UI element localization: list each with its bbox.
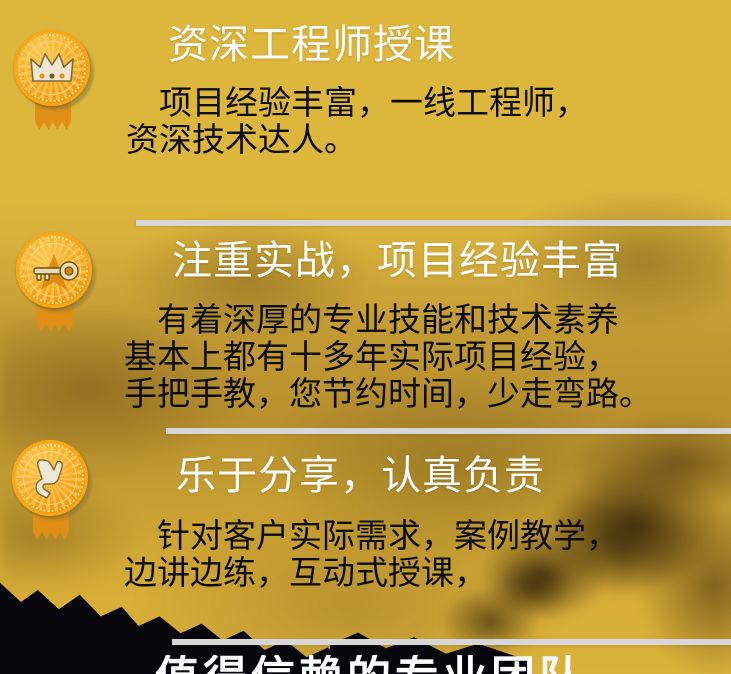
body-block-3: 针对客户实际需求，案例教学， 边讲边练，互动式授课， [124, 518, 731, 592]
medal-coin [14, 30, 90, 106]
body-block-1: 项目经验丰富，一线工程师， 资深技术达人。 [126, 85, 726, 159]
section-body-1: 项目经验丰富，一线工程师， 资深技术达人。 [126, 85, 726, 159]
text-block-3: 乐于分享，认真负责 [176, 455, 545, 497]
badge-slot-2 [10, 228, 106, 338]
text-block-1: 资深工程师授课 [168, 24, 455, 66]
section-divider-2 [166, 428, 731, 434]
body-block-2: 有着深厚的专业技能和技术素养 基本上都有十多年实际项目经验， 手把手教，您节约时… [124, 302, 731, 413]
promo-poster: 资深工程师授课 项目经验丰富，一线工程师， 资深技术达人。 [0, 0, 731, 674]
badge-slot-1 [8, 26, 104, 136]
text-block-2: 注重实战，项目经验丰富 [172, 240, 623, 282]
crown-medal-icon [8, 26, 100, 134]
medal-coin [12, 440, 88, 516]
medal-coin [16, 232, 92, 308]
section-headline-3: 乐于分享，认真负责 [176, 455, 545, 497]
bottom-clipped-headline: 值得信赖的专业团队 [155, 655, 587, 674]
poster-content: 资深工程师授课 项目经验丰富，一线工程师， 资深技术达人。 [0, 0, 731, 674]
section-body-3: 针对客户实际需求，案例教学， 边讲边练，互动式授课， [124, 518, 731, 592]
hand-medal-icon [6, 436, 98, 544]
hand-glyph [12, 440, 88, 516]
key-glyph [16, 232, 92, 308]
section-divider-1 [136, 220, 731, 226]
badge-slot-3 [6, 436, 102, 546]
crown-glyph [14, 30, 90, 106]
section-headline-1: 资深工程师授课 [168, 24, 455, 66]
section-divider-3 [172, 639, 731, 645]
section-headline-2: 注重实战，项目经验丰富 [172, 240, 623, 282]
section-body-2: 有着深厚的专业技能和技术素养 基本上都有十多年实际项目经验， 手把手教，您节约时… [124, 302, 731, 413]
key-medal-icon [10, 228, 102, 336]
